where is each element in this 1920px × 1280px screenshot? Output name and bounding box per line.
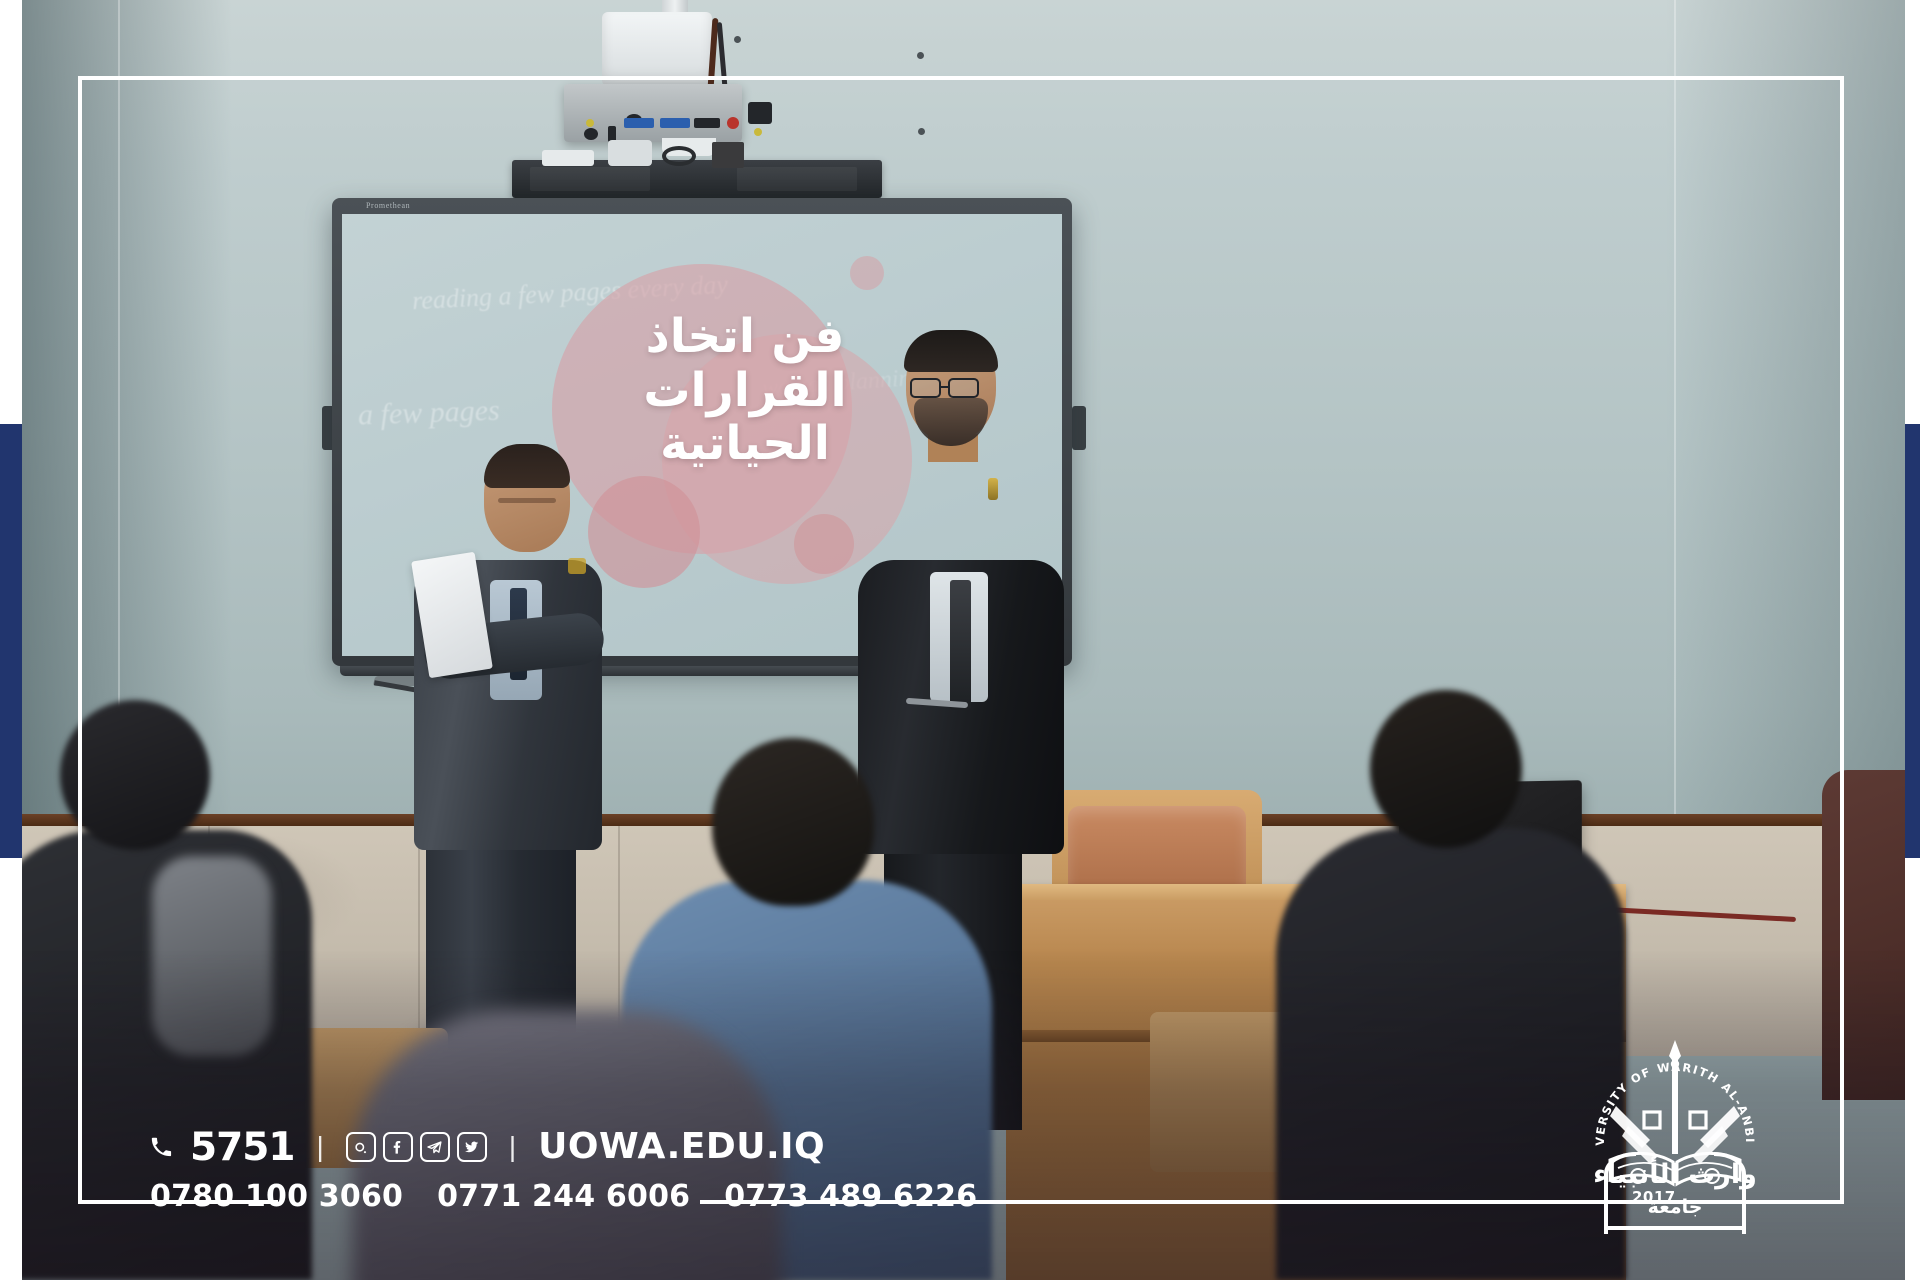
phone-handset-icon: [150, 1134, 172, 1160]
speaker-left-lapel-pin: [568, 558, 586, 574]
contact-primary-row: 5751 |: [150, 1124, 1350, 1170]
projector-unit: [564, 84, 742, 142]
slide-title-line-2: القرارات: [600, 364, 890, 418]
projector-mount-bracket: [602, 12, 712, 86]
telegram-icon[interactable]: [420, 1132, 450, 1162]
slide-blob: [794, 514, 854, 574]
svg-text:UNIVERSITY OF WARITH AL-ANBIYA: UNIVERSITY OF WARITH AL-ANBIYAA: [1580, 1034, 1757, 1146]
ceiling-fixture-dot: [918, 128, 925, 135]
board-bracket-right: [1072, 406, 1086, 450]
speaker-right-glasses-bridge: [939, 386, 949, 388]
frame-border-left: [78, 76, 82, 1204]
speaker-right-glasses-right-lens: [948, 378, 979, 398]
logo-founding-year: 2017: [1632, 1188, 1676, 1206]
logo-ring-text: UNIVERSITY OF WARITH AL-ANBIYAA: [1580, 1034, 1757, 1146]
phone-number-2[interactable]: 0771 244 6006: [437, 1179, 690, 1214]
poster-card: Promethean reading a few pages every day…: [0, 0, 1920, 1280]
frame-border-top: [78, 76, 1844, 80]
contact-footer: 5751 |: [150, 1124, 1350, 1214]
stone-joint: [418, 826, 420, 1056]
phone-number-3[interactable]: 0773 489 6226: [724, 1179, 977, 1214]
speaker-right-tie: [950, 580, 971, 710]
speaker-right-lapel-badge: [988, 478, 998, 500]
website-url[interactable]: UOWA.EDU.IQ: [538, 1129, 825, 1165]
phone-number-1[interactable]: 0780 100 3060: [150, 1179, 403, 1214]
wall-seam: [1674, 0, 1676, 830]
desk-gadget: [608, 140, 652, 166]
footer-separator-2: |: [509, 1131, 516, 1163]
footer-separator-1: |: [317, 1131, 324, 1163]
small-box: [712, 142, 744, 168]
facebook-icon[interactable]: [383, 1132, 413, 1162]
slide-blob: [850, 256, 884, 290]
contact-phone-numbers-row: 0780 100 3060 0771 244 6006 0773 489 622…: [150, 1179, 1350, 1214]
ceiling-fixture-dot: [917, 52, 924, 59]
short-phone-number[interactable]: 5751: [190, 1128, 295, 1167]
university-logo: UNIVERSITY OF WARITH AL-ANBIYAA وارث الأ…: [1580, 1034, 1770, 1234]
wall-shadow-right: [1665, 0, 1905, 830]
frame-border-right: [1840, 76, 1844, 1204]
slide-blob: [588, 476, 700, 588]
ceiling-fixture-dot: [734, 36, 741, 43]
whiteboard-brand-label: Promethean: [366, 201, 410, 210]
cable-coil: [662, 146, 696, 166]
audience-member-head: [712, 738, 874, 906]
audience-member-head: [1370, 690, 1522, 848]
slide-title-line-3: الحياتية: [600, 417, 890, 471]
speaker-right-glasses-left-lens: [910, 378, 941, 398]
audience-member-scarf: [152, 856, 272, 1056]
board-ghost-text: a few pages: [357, 394, 500, 433]
desk-gadget: [542, 150, 594, 166]
speaker-left-mouth: [498, 498, 556, 503]
slide-title-block: فن اتخاذ القرارات الحياتية: [600, 310, 890, 471]
twitter-icon[interactable]: [457, 1132, 487, 1162]
audience-member-head: [60, 700, 210, 850]
slide-title-line-1: فن اتخاذ: [600, 310, 890, 364]
logo-arabic-name: وارث الأنبياء: [1580, 1159, 1770, 1190]
leather-office-chair: [1822, 770, 1905, 1100]
social-icon-group: [346, 1132, 487, 1162]
instagram-icon[interactable]: [346, 1132, 376, 1162]
accent-band-left: [0, 424, 22, 858]
